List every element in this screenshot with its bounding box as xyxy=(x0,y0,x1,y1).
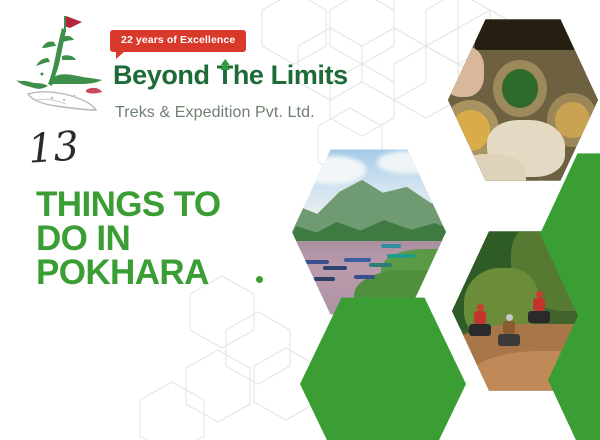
boat xyxy=(323,266,348,270)
lake-cloud xyxy=(301,156,366,184)
poster-canvas: 22 years of Excellence Beyond The Limits… xyxy=(0,0,600,440)
company-logo-icon xyxy=(8,8,112,118)
boat xyxy=(301,260,329,264)
lake-cloud xyxy=(377,151,439,173)
quad-bike xyxy=(469,324,491,336)
boat xyxy=(354,275,376,279)
brand-tagline: Treks & Expedition Pvt. Ltd. xyxy=(115,105,315,121)
brand-name: Beyond The Limits xyxy=(113,62,348,89)
years-of-excellence-badge: 22 years of Excellence xyxy=(110,30,246,52)
rider-body xyxy=(533,298,545,311)
boat xyxy=(314,277,336,281)
bowl-inner xyxy=(451,110,490,151)
quad-bike xyxy=(498,334,520,346)
item-count: 13 xyxy=(27,126,81,169)
rider-body xyxy=(503,321,515,334)
helmet-icon xyxy=(536,291,543,298)
bowl-inner xyxy=(502,69,539,108)
brand-name-part1: Beyond xyxy=(113,60,217,90)
boat xyxy=(387,254,415,258)
boat xyxy=(381,244,401,248)
accent-dot xyxy=(256,276,263,283)
brand-name-letter-t: T xyxy=(217,62,233,89)
green-hexagon-accent xyxy=(300,294,466,440)
quad-bike xyxy=(528,311,550,323)
rider-body xyxy=(474,311,486,324)
boat xyxy=(369,263,392,267)
photo-phewa-lake-boats xyxy=(292,146,446,318)
brand-name-part3: he Limits xyxy=(233,60,348,90)
hand xyxy=(448,46,484,96)
bowl-greens xyxy=(493,60,547,117)
poster-title: THINGS TO DO IN POKHARA xyxy=(36,188,221,290)
flatbread xyxy=(457,154,526,184)
boat xyxy=(344,258,370,262)
